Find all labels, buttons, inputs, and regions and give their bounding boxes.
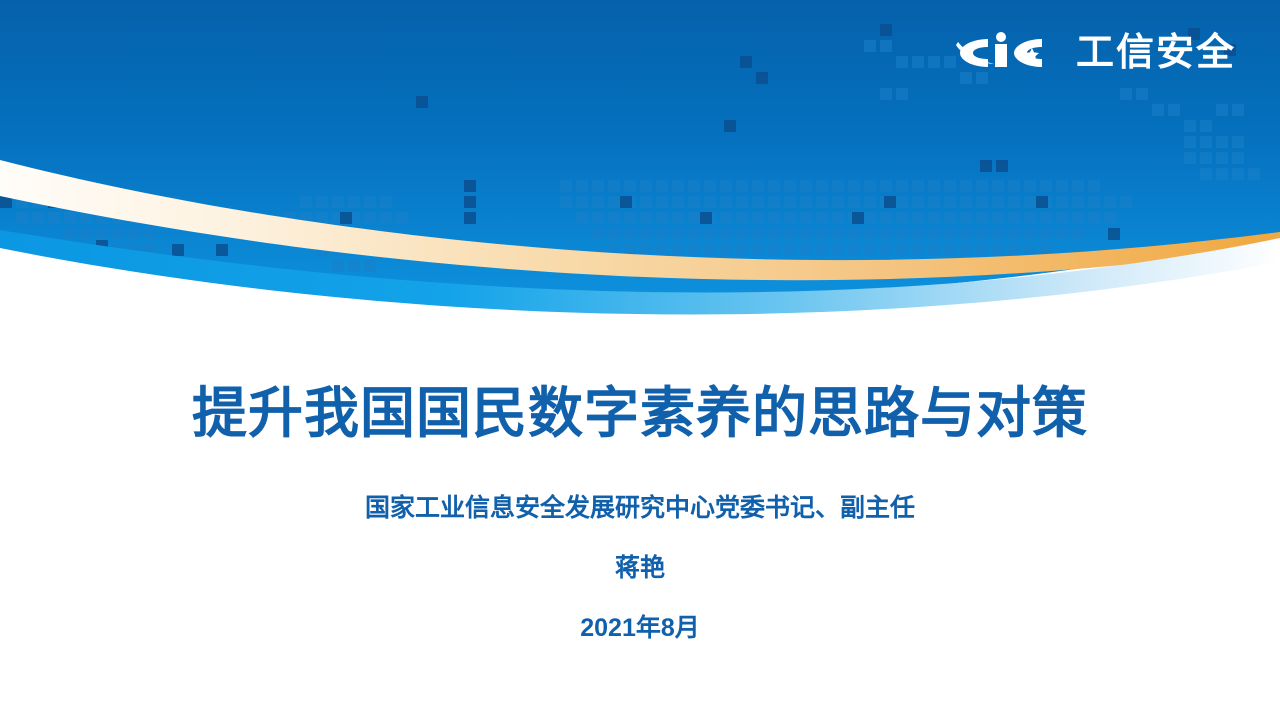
- presenter-name: 蒋艳: [0, 523, 1280, 583]
- slide-title: 提升我国国民数字素养的思路与对策: [0, 382, 1280, 445]
- header-banner: 工信安全: [0, 0, 1280, 330]
- presenter-affiliation: 国家工业信息安全发展研究中心党委书记、副主任: [0, 445, 1280, 523]
- organization-logo: 工信安全: [952, 30, 1236, 76]
- logo-wordmark: 工信安全: [1076, 34, 1236, 72]
- presentation-slide: 工信安全 提升我国国民数字素养的思路与对策 国家工业信息安全发展研究中心党委书记…: [0, 0, 1280, 720]
- presentation-date: 2021年8月: [0, 583, 1280, 643]
- slide-content: 提升我国国民数字素养的思路与对策 国家工业信息安全发展研究中心党委书记、副主任 …: [0, 382, 1280, 643]
- cic-logo-icon: [952, 30, 1064, 76]
